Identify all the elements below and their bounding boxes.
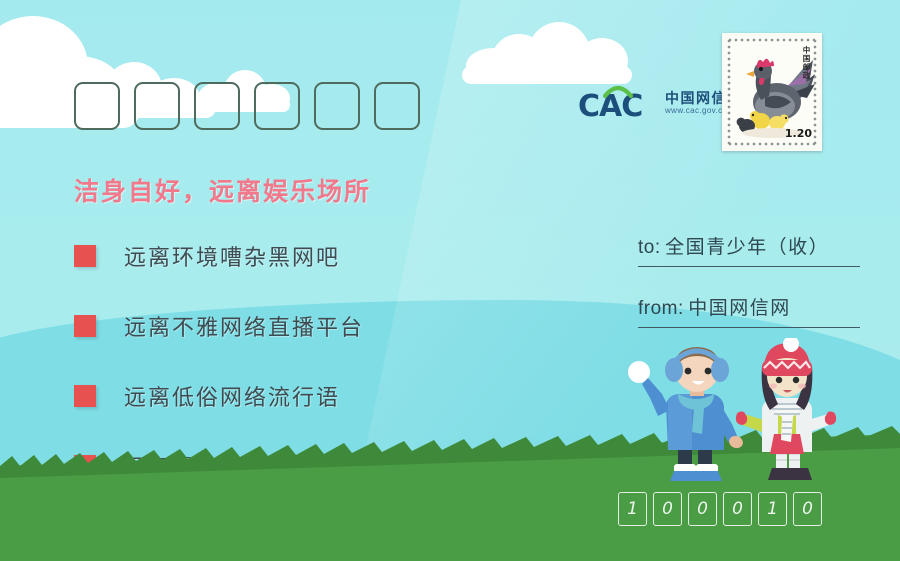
- bullet-square-icon: [74, 385, 96, 407]
- from-value: 中国网信网: [688, 298, 791, 319]
- list-item: 远离低俗网络流行语: [74, 370, 364, 422]
- postcard: CAC 中国网信网 www.cac.gov.cn: [0, 0, 900, 561]
- list-item: 远离环境嘈杂黑网吧: [74, 230, 364, 282]
- stamp-inner: 中国邮政 1.20: [727, 38, 817, 146]
- from-label: from:: [638, 298, 684, 319]
- cac-wordmark: CAC: [578, 84, 656, 122]
- postal-code-box[interactable]: [194, 82, 240, 130]
- postal-code-box[interactable]: [374, 82, 420, 130]
- bullet-text: 远离环境嘈杂黑网吧: [124, 240, 340, 272]
- girl-figure: [736, 338, 836, 480]
- winter-kids-illustration: [612, 338, 852, 488]
- address-row-to[interactable]: to: 全国青少年（收）: [638, 232, 860, 267]
- zip-digit: 0: [688, 492, 717, 526]
- zip-digit: 1: [618, 492, 647, 526]
- page-title: 洁身自好，远离娱乐场所: [74, 172, 371, 208]
- bullet-text: 远离不雅网络直播平台: [124, 310, 364, 342]
- cac-logo: CAC 中国网信网 www.cac.gov.cn: [578, 84, 743, 122]
- to-label: to:: [638, 237, 661, 258]
- postal-code-box[interactable]: [74, 82, 120, 130]
- zip-code-boxes: 1 0 0 0 1 0: [618, 492, 822, 526]
- bullet-square-icon: [74, 245, 96, 267]
- postal-code-box[interactable]: [134, 82, 180, 130]
- zip-digit: 0: [723, 492, 752, 526]
- postal-code-boxes[interactable]: [74, 82, 420, 130]
- postal-code-box[interactable]: [314, 82, 360, 130]
- stamp-denomination: 1.20: [785, 127, 812, 140]
- list-item: 远离不雅网络直播平台: [74, 300, 364, 352]
- zip-digit: 1: [758, 492, 787, 526]
- bullet-square-icon: [74, 315, 96, 337]
- bullet-text: 远离低俗网络流行语: [124, 380, 340, 412]
- address-row-from[interactable]: from: 中国网信网: [638, 293, 860, 328]
- zip-digit: 0: [793, 492, 822, 526]
- boy-figure: [628, 347, 745, 481]
- stamp-country-text: 中国邮政: [801, 46, 812, 80]
- postal-code-box[interactable]: [254, 82, 300, 130]
- postage-stamp: 中国邮政 1.20: [722, 33, 822, 151]
- wifi-arc-icon: [603, 83, 633, 99]
- cloud-center: [466, 22, 636, 84]
- address-block: to: 全国青少年（收） from: 中国网信网: [638, 232, 860, 354]
- to-value: 全国青少年（收）: [665, 237, 829, 258]
- zip-digit: 0: [653, 492, 682, 526]
